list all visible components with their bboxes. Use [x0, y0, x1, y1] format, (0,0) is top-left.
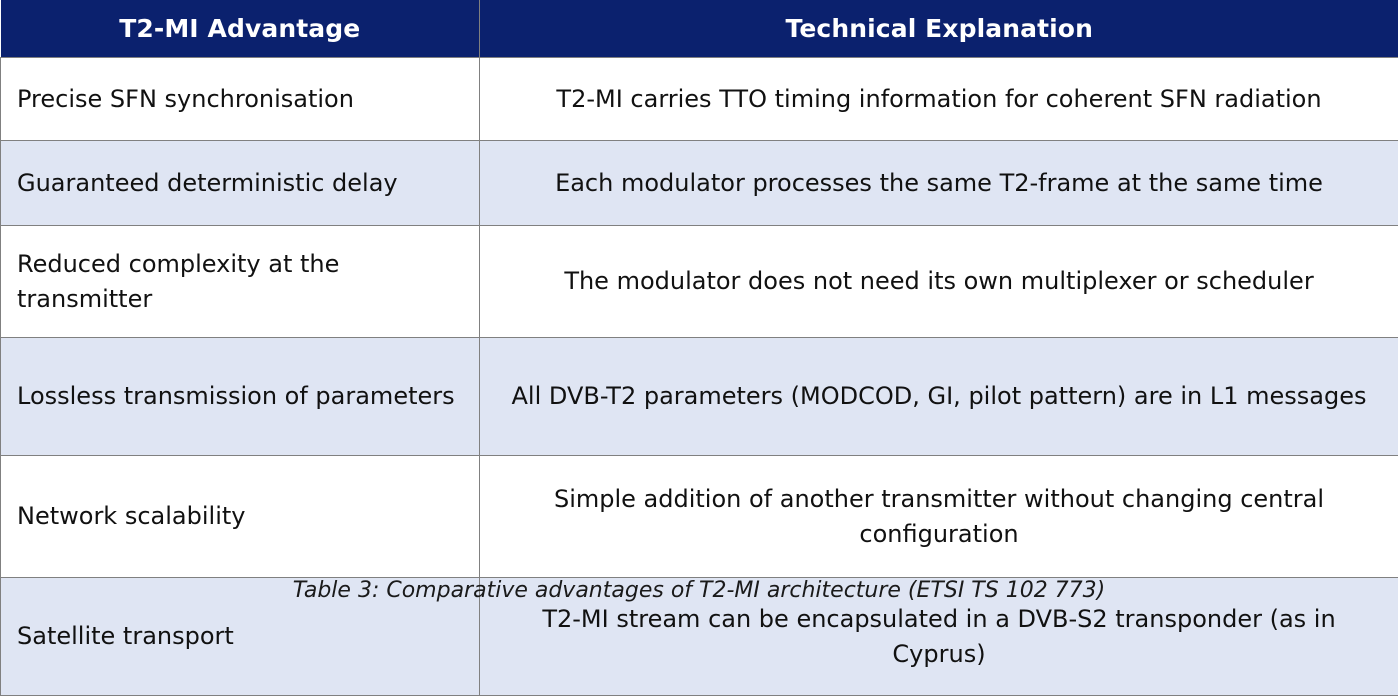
table-caption: Table 3: Comparative advantages of T2-MI…	[0, 578, 1398, 603]
table-row: Guaranteed deterministic delay Each modu…	[1, 141, 1398, 226]
cell-advantage: Network scalability	[1, 456, 480, 578]
cell-explanation: All DVB-T2 parameters (MODCOD, GI, pilot…	[480, 338, 1398, 456]
table-row: Precise SFN synchronisation T2-MI carrie…	[1, 58, 1398, 141]
cell-advantage: Precise SFN synchronisation	[1, 58, 480, 141]
cell-explanation: T2-MI carries TTO timing information for…	[480, 58, 1398, 141]
table-row: Reduced complexity at the transmitter Th…	[1, 226, 1398, 338]
cell-explanation: The modulator does not need its own mult…	[480, 226, 1398, 338]
table-row: Network scalability Simple addition of a…	[1, 456, 1398, 578]
table-row: Lossless transmission of parameters All …	[1, 338, 1398, 456]
cell-advantage: Lossless transmission of parameters	[1, 338, 480, 456]
table-header: T2-MI Advantage Technical Explanation	[1, 0, 1398, 58]
cell-advantage: Guaranteed deterministic delay	[1, 141, 480, 226]
table-header-row: T2-MI Advantage Technical Explanation	[1, 0, 1398, 58]
cell-explanation: Simple addition of another transmitter w…	[480, 456, 1398, 578]
column-header-explanation: Technical Explanation	[480, 0, 1398, 58]
table-page: T2-MI Advantage Technical Explanation Pr…	[0, 0, 1398, 616]
cell-advantage: Reduced complexity at the transmitter	[1, 226, 480, 338]
cell-explanation: Each modulator processes the same T2-fra…	[480, 141, 1398, 226]
column-header-advantage: T2-MI Advantage	[1, 0, 480, 58]
